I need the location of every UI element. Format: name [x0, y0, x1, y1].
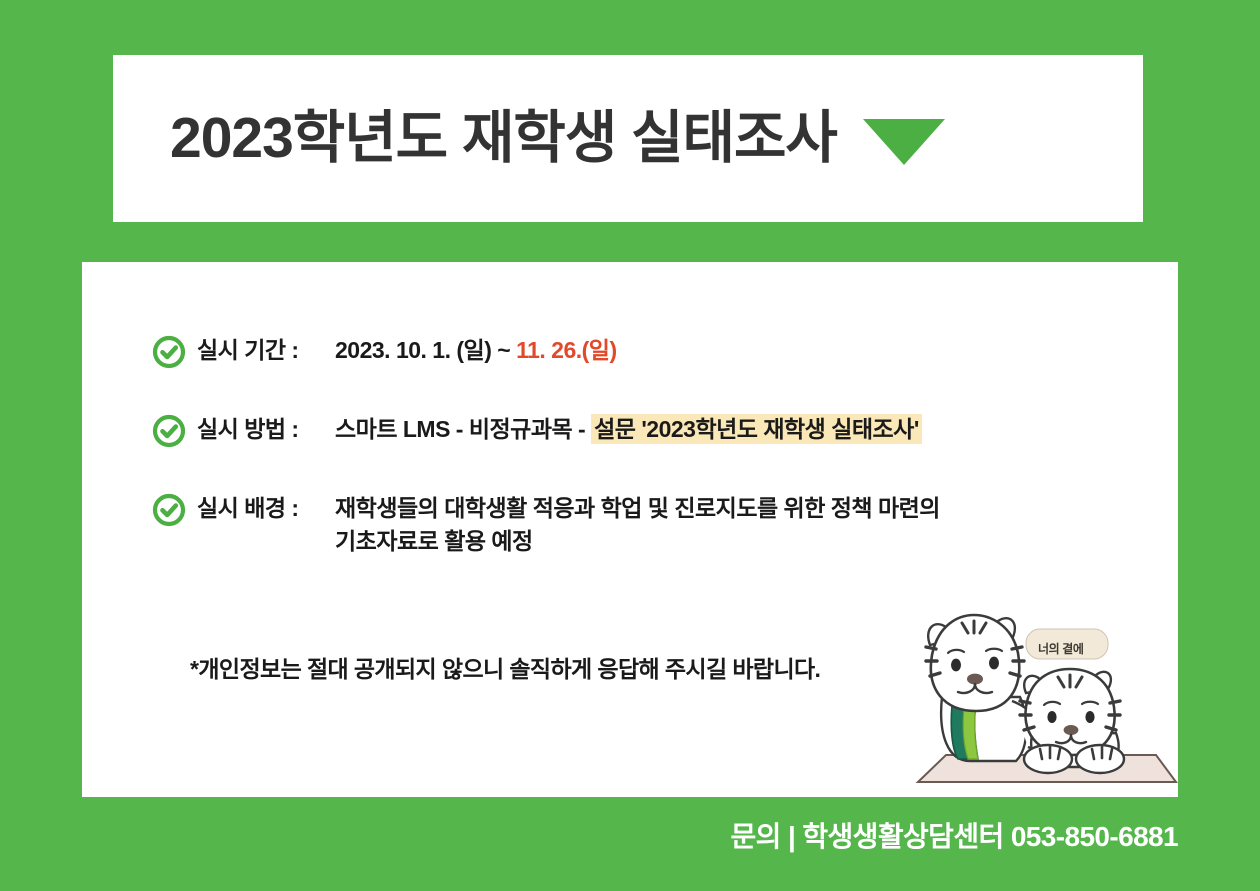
info-row-label: 실시 기간 : — [197, 334, 315, 367]
method-highlight: 설문 '2023학년도 재학생 실태조사' — [591, 414, 922, 444]
info-row-period: 실시 기간 : 2023. 10. 1. (일) ~ 11. 26.(일) — [152, 334, 1132, 369]
info-row-label: 실시 방법 : — [197, 413, 315, 446]
period-accent: 11. 26.(일) — [516, 337, 617, 363]
check-circle-icon — [152, 493, 186, 527]
privacy-note: *개인정보는 절대 공개되지 않으니 솔직하게 응답해 주시길 바랍니다. — [190, 650, 820, 684]
info-row-background: 실시 배경 : 재학생들의 대학생활 적응과 학업 및 진로지도를 위한 정책 … — [152, 492, 1132, 559]
background-line-1: 재학생들의 대학생활 적응과 학업 및 진로지도를 위한 정책 마련의 — [335, 495, 940, 521]
check-circle-icon — [152, 414, 186, 448]
title-bar: 2023학년도 재학생 실태조사 — [113, 55, 1143, 222]
period-plain: 2023. 10. 1. (일) ~ — [335, 337, 516, 363]
background-line-2: 기초자료로 활용 예정 — [335, 525, 940, 558]
tiger-mascot: 너의 곁에 — [908, 597, 1178, 797]
footer-contact: 문의 | 학생생활상담센터 053-850-6881 — [730, 815, 1178, 855]
info-row-value: 스마트 LMS - 비정규과목 - 설문 '2023학년도 재학생 실태조사' — [335, 413, 922, 446]
page-title: 2023학년도 재학생 실태조사 — [170, 110, 837, 167]
info-row-value: 2023. 10. 1. (일) ~ 11. 26.(일) — [335, 334, 617, 367]
chevron-down-icon — [863, 119, 945, 165]
poster-root: { "colors": { "background_green": "#54b6… — [0, 0, 1260, 891]
check-circle-icon — [152, 335, 186, 369]
info-row-list: 실시 기간 : 2023. 10. 1. (일) ~ 11. 26.(일) 실시… — [152, 334, 1132, 559]
main-panel: 실시 기간 : 2023. 10. 1. (일) ~ 11. 26.(일) 실시… — [82, 262, 1178, 797]
info-row-method: 실시 방법 : 스마트 LMS - 비정규과목 - 설문 '2023학년도 재학… — [152, 413, 1132, 448]
info-row-value: 재학생들의 대학생활 적응과 학업 및 진로지도를 위한 정책 마련의기초자료로… — [335, 492, 940, 559]
mascot-speech-bubble: 너의 곁에 — [1038, 640, 1084, 657]
info-row-label: 실시 배경 : — [197, 492, 315, 525]
method-plain: 스마트 LMS - 비정규과목 - — [335, 416, 591, 442]
